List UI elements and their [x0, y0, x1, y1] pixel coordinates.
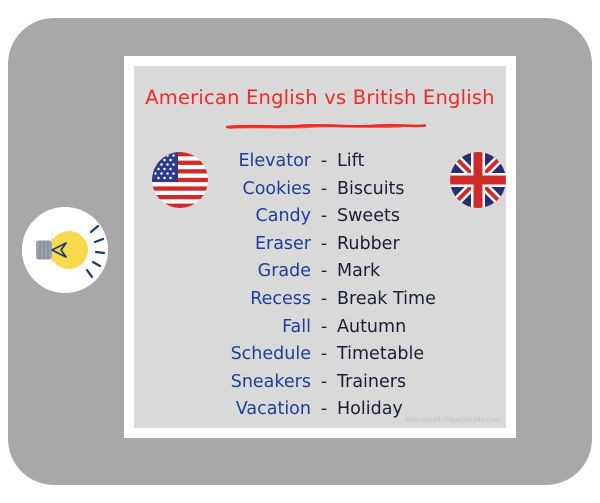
lightbulb-icon	[22, 207, 108, 293]
american-term: Vacation	[134, 399, 311, 419]
pair-separator: -	[311, 372, 337, 392]
british-term: Timetable	[337, 344, 506, 364]
title-underline-icon	[226, 122, 426, 130]
page-title: American English vs British English	[134, 86, 506, 109]
british-term: Trainers	[337, 372, 506, 392]
american-term: Recess	[134, 289, 311, 309]
screenshot-root: American English vs British English	[0, 0, 600, 503]
table-row: Grade - Mark	[134, 261, 506, 289]
british-term: Lift	[337, 151, 506, 171]
poster-card: American English vs British English	[124, 56, 516, 438]
lightbulb-badge	[22, 207, 108, 293]
pair-separator: -	[311, 261, 337, 281]
british-term: Mark	[337, 261, 506, 281]
pair-separator: -	[311, 344, 337, 364]
table-row: Candy - Sweets	[134, 206, 506, 234]
table-row: Fall - Autumn	[134, 317, 506, 345]
pair-separator: -	[311, 206, 337, 226]
british-term: Rubber	[337, 234, 506, 254]
british-term: Sweets	[337, 206, 506, 226]
pair-separator: -	[311, 317, 337, 337]
british-term: Autumn	[337, 317, 506, 337]
british-term: Biscuits	[337, 179, 506, 199]
watermark-text: Kids-World-Travel-Guide.com	[406, 417, 501, 424]
american-term: Grade	[134, 261, 311, 281]
american-term: Eraser	[134, 234, 311, 254]
poster-card-inner: American English vs British English	[134, 66, 506, 428]
american-term: Fall	[134, 317, 311, 337]
american-term: Elevator	[134, 151, 311, 171]
american-term: Schedule	[134, 344, 311, 364]
table-row: Cookies - Biscuits	[134, 179, 506, 207]
pair-separator: -	[311, 289, 337, 309]
pair-separator: -	[311, 234, 337, 254]
pair-separator: -	[311, 151, 337, 171]
british-term: Break Time	[337, 289, 506, 309]
table-row: Recess - Break Time	[134, 289, 506, 317]
american-term: Candy	[134, 206, 311, 226]
table-row: Sneakers - Trainers	[134, 372, 506, 400]
word-pair-list: Elevator - Lift Cookies - Biscuits Candy…	[134, 151, 506, 427]
table-row: Elevator - Lift	[134, 151, 506, 179]
pair-separator: -	[311, 399, 337, 419]
american-term: Cookies	[134, 179, 311, 199]
pair-separator: -	[311, 179, 337, 199]
table-row: Eraser - Rubber	[134, 234, 506, 262]
american-term: Sneakers	[134, 372, 311, 392]
table-row: Schedule - Timetable	[134, 344, 506, 372]
